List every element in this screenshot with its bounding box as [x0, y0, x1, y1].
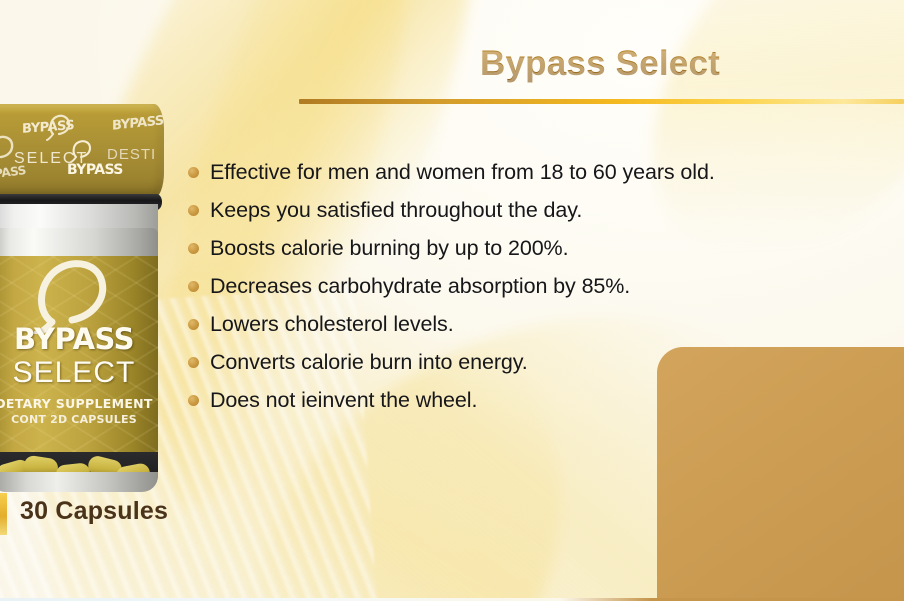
bullet-dot-icon [188, 243, 199, 254]
product-benefit-banner: Bypass Select Effective for men and wome… [0, 0, 904, 601]
benefit-text: Effective for men and women from 18 to 6… [210, 160, 715, 185]
benefit-text: Decreases carbohydrate absorption by 85%… [210, 274, 630, 299]
page-title: Bypass Select [300, 44, 900, 84]
quantity-label: 30 Capsules [20, 497, 168, 526]
bullet-dot-icon [188, 357, 199, 368]
list-item: Effective for men and women from 18 to 6… [188, 160, 868, 185]
bullet-dot-icon [188, 281, 199, 292]
bottle-cap: BYPASS BYPASS SELECT BYPASS DESTI BYPASS [0, 104, 164, 198]
bottle-label-brand: BYPASS [0, 322, 158, 356]
bottle-body: BYPASS SELECT DETARY SUPPLEMENT CONT 2D … [0, 228, 158, 490]
list-item: Boosts calorie burning by up to 200%. [188, 236, 868, 261]
benefit-text: Lowers cholesterol levels. [210, 312, 454, 337]
capsule-panel: BYPASS [657, 347, 904, 601]
list-item: Keeps you satisfied throughout the day. [188, 198, 868, 223]
benefit-text: Keeps you satisfied throughout the day. [210, 198, 582, 223]
bottle-label: BYPASS SELECT DETARY SUPPLEMENT CONT 2D … [0, 256, 158, 452]
benefit-text: Does not ieinvent the wheel. [210, 388, 477, 413]
bullet-dot-icon [188, 167, 199, 178]
bullet-dot-icon [188, 395, 199, 406]
quantity-accent-bar [0, 493, 7, 535]
bottle-label-variant: SELECT [0, 356, 158, 390]
bottle-base [0, 472, 158, 492]
bottle-label-descriptor: DETARY SUPPLEMENT [0, 396, 158, 411]
product-bottle-image: BYPASS BYPASS SELECT BYPASS DESTI BYPASS… [0, 104, 174, 490]
bottle-cap-word-right: DESTI [107, 146, 156, 163]
benefit-text: Boosts calorie burning by up to 200%. [210, 236, 568, 261]
bottle-label-count: CONT 2D CAPSULES [0, 413, 158, 426]
bullet-dot-icon [188, 319, 199, 330]
bullet-dot-icon [188, 205, 199, 216]
bottle-cap-brand-right: BYPASS [112, 113, 164, 133]
list-item: Decreases carbohydrate absorption by 85%… [188, 274, 868, 299]
benefit-text: Converts calorie burn into energy. [210, 350, 528, 375]
title-divider [299, 99, 904, 104]
bottle-cap-word-edge: BYPASS [0, 163, 27, 183]
bottle-cap-brand-center: BYPASS [67, 162, 123, 178]
list-item: Lowers cholesterol levels. [188, 312, 868, 337]
